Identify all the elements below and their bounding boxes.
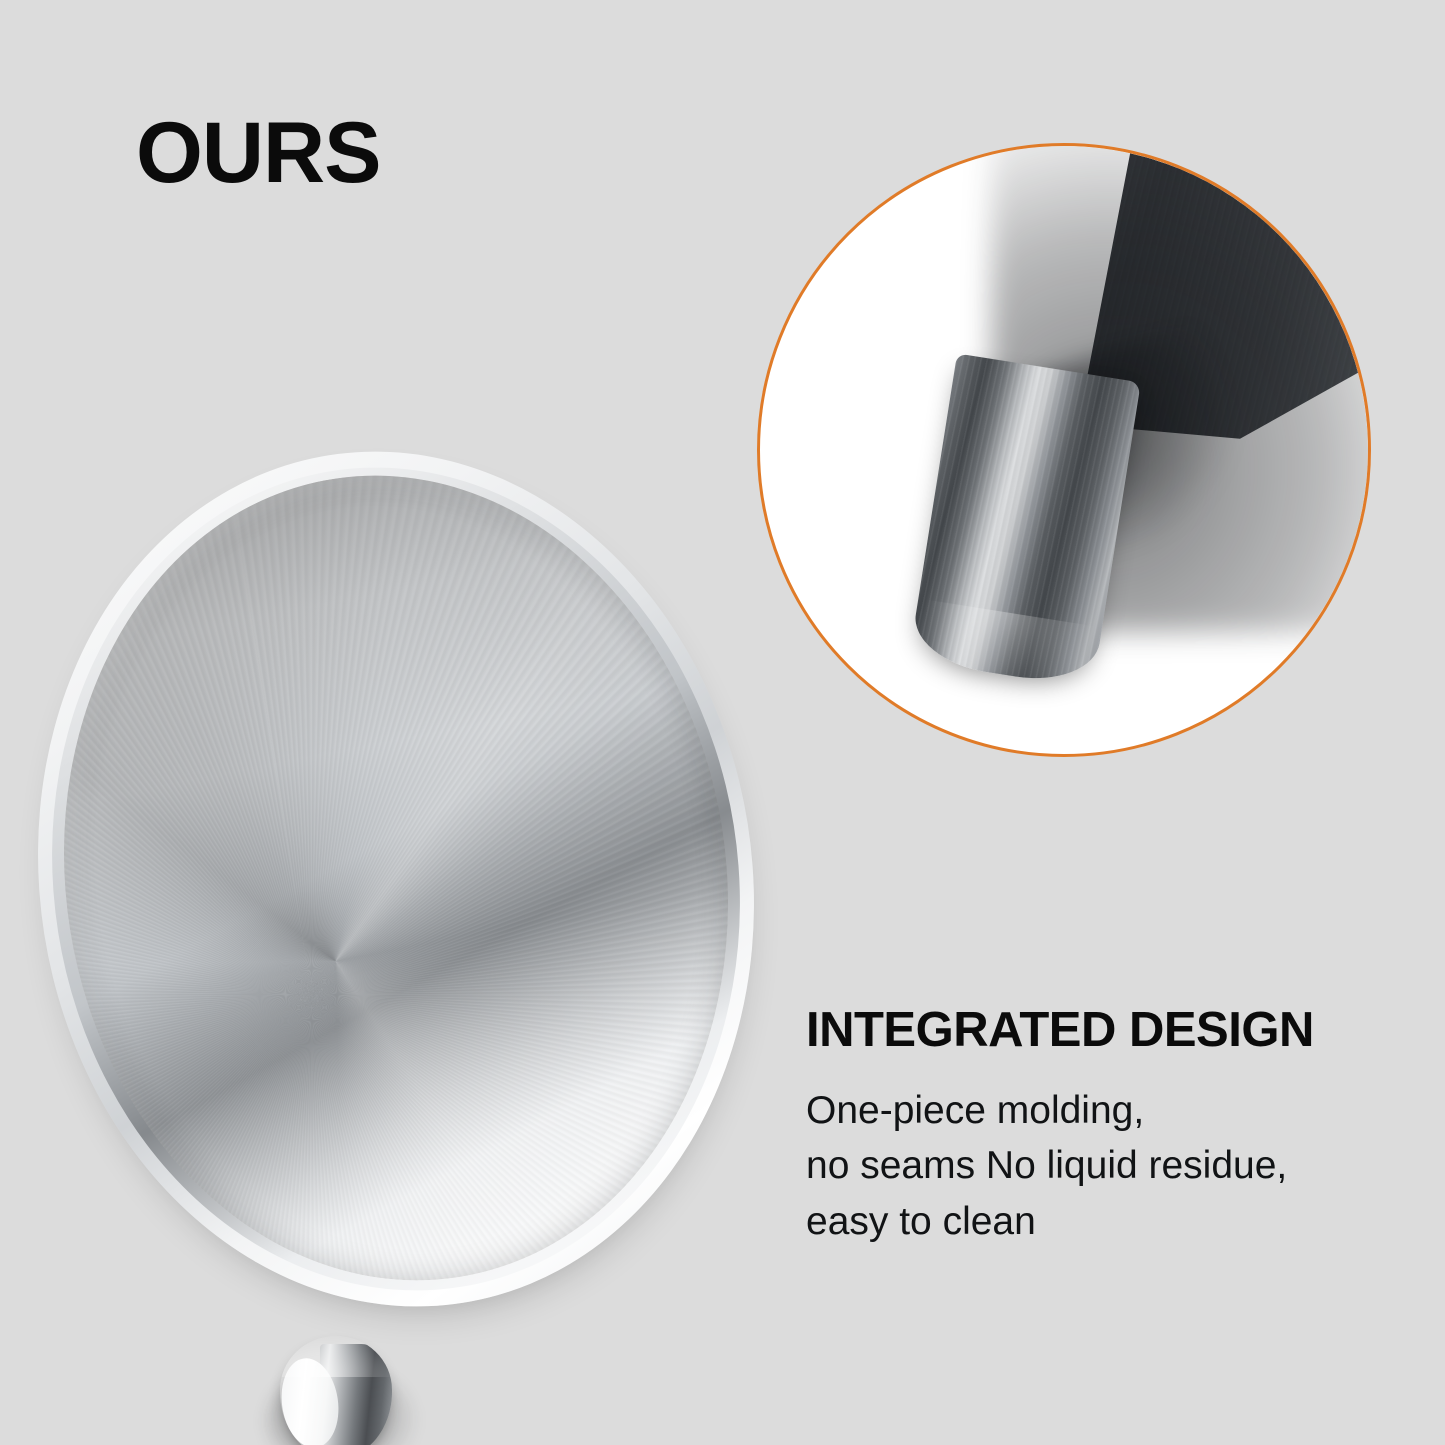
feature-text-block: INTEGRATED DESIGN One-piece molding, no … [806, 1005, 1426, 1249]
brand-label: OURS [136, 110, 380, 196]
feature-body-line-2: no seams No liquid residue, [806, 1138, 1426, 1193]
magnified-detail-circle [757, 143, 1371, 757]
detail-center-post [909, 353, 1141, 688]
detail-circle-clip [760, 146, 1368, 754]
disc-center-post [280, 1336, 392, 1445]
feature-heading: INTEGRATED DESIGN [806, 1005, 1426, 1057]
feature-body-line-3: easy to clean [806, 1194, 1426, 1249]
feature-body: One-piece molding, no seams No liquid re… [806, 1083, 1426, 1249]
disc-post-highlight [280, 1336, 392, 1377]
disc-brushed-face [7, 427, 785, 1328]
feature-body-line-1: One-piece molding, [806, 1083, 1426, 1138]
product-disc [40, 450, 752, 1308]
product-feature-image: OURS I [0, 0, 1445, 1445]
